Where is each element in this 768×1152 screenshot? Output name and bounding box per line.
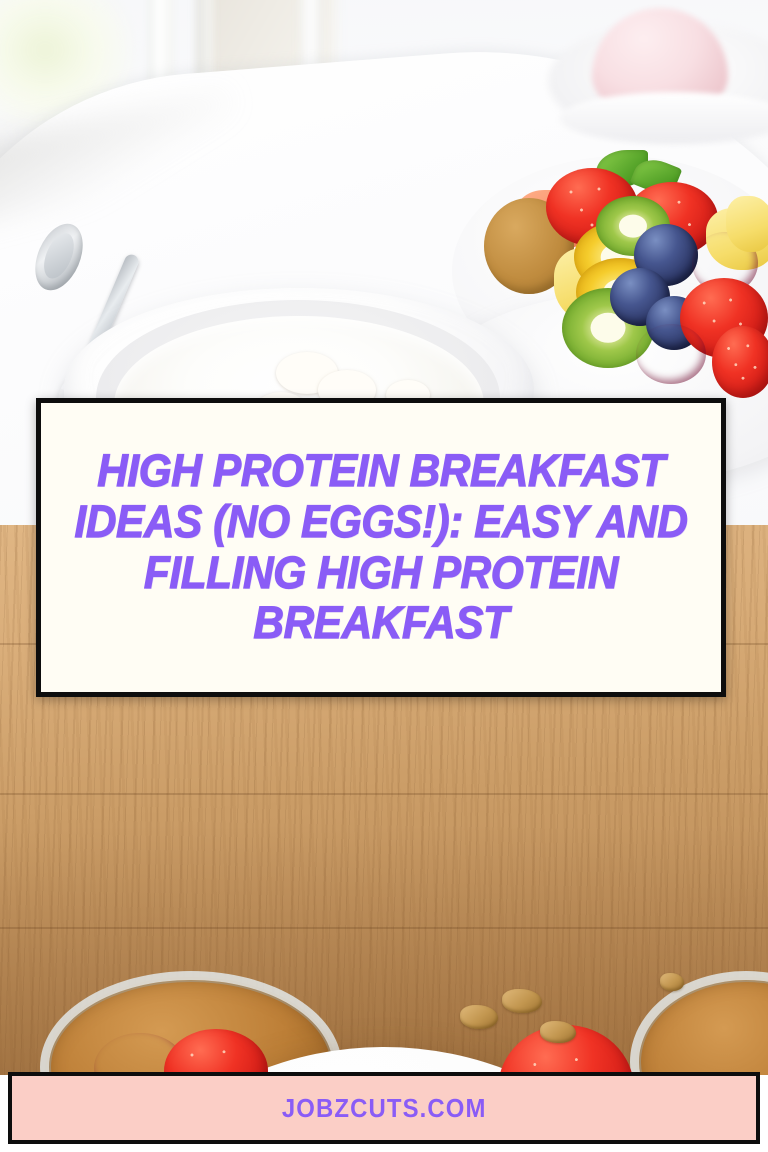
wood-plank-seam [0,793,768,795]
raspberry [636,324,706,384]
granola-piece [502,989,542,1013]
pineapple-wedge [726,196,768,252]
title-card: High Protein Breakfast Ideas (No Eggs!):… [36,398,726,697]
site-footer-bar: JOBZCUTS.COM [8,1072,760,1144]
page-title: High Protein Breakfast Ideas (No Eggs!):… [61,446,700,649]
site-url-label: JOBZCUTS.COM [282,1093,487,1124]
strawberry [712,326,768,398]
bottom-white-strip [0,1144,768,1152]
granola-piece [460,1005,498,1029]
granola-piece [540,1021,576,1043]
granola-piece [660,973,684,991]
pinterest-pin: High Protein Breakfast Ideas (No Eggs!):… [0,0,768,1152]
